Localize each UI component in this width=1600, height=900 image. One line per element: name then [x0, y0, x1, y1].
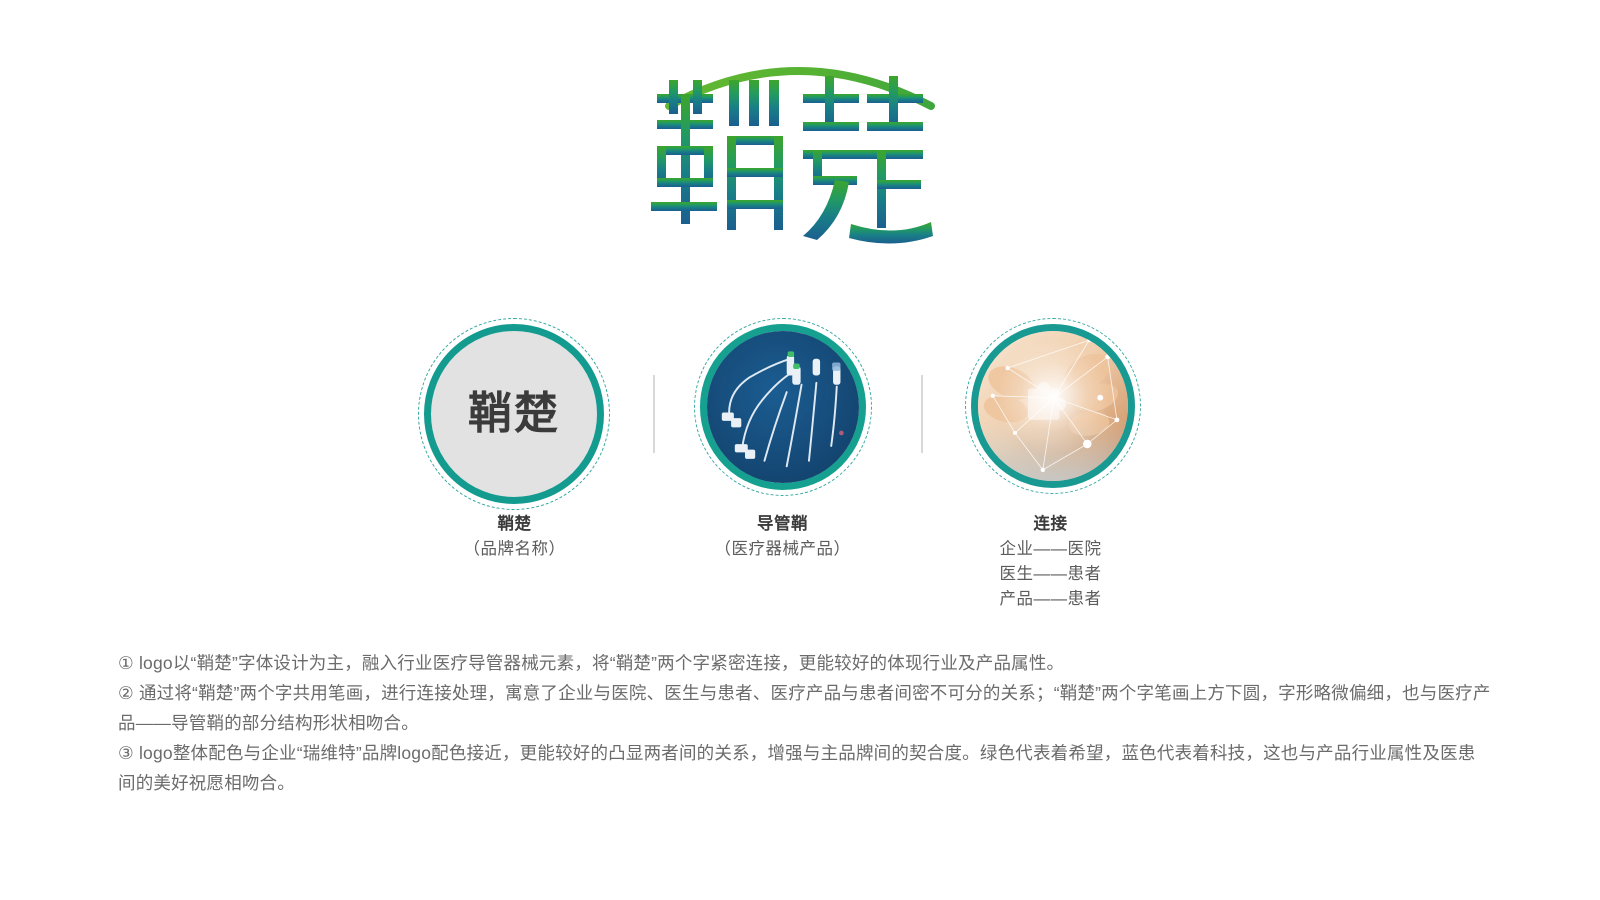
relation-line-1: 企业——医院 [948, 537, 1153, 562]
note-item-1: ① logo以“鞘楚”字体设计为主，融入行业医疗导管器械元素，将“鞘楚”两个字紧… [118, 648, 1493, 678]
caption-subtitle: （品牌名称） [412, 537, 617, 562]
solid-ring-3 [971, 324, 1135, 488]
relation-line-2: 医生——患者 [948, 562, 1153, 587]
caption-connection: 连接 企业——医院 医生——患者 产品——患者 [948, 512, 1153, 612]
logo-glyph-chu [803, 76, 933, 244]
concept-circles-row: 鞘楚 [0, 318, 1600, 518]
dashed-ring-3 [965, 318, 1141, 494]
catheter-sheath-photo [707, 331, 859, 483]
concept-circle-brand-name[interactable]: 鞘楚 [418, 318, 610, 510]
brand-logo-svg [645, 50, 955, 250]
caption-title: 连接 [948, 512, 1153, 537]
caption-brand-name: 鞘楚 （品牌名称） [412, 512, 617, 562]
dashed-ring-2 [694, 318, 872, 496]
concept-circle-connection[interactable] [965, 318, 1141, 494]
logo-lockup [645, 50, 955, 250]
relation-line-3: 产品——患者 [948, 587, 1153, 612]
note-item-2: ② 通过将“鞘楚”两个字共用笔画，进行连接处理，寓意了企业与医院、医生与患者、医… [118, 678, 1493, 738]
caption-title: 导管鞘 [680, 512, 885, 537]
concept-circle-catheter-sheath[interactable] [694, 318, 872, 496]
note-item-3: ③ logo整体配色与企业“瑞维特”品牌logo配色接近，更能较好的凸显两者间的… [118, 738, 1493, 798]
design-rationale-notes: ① logo以“鞘楚”字体设计为主，融入行业医疗导管器械元素，将“鞘楚”两个字紧… [118, 648, 1493, 798]
logo-area [0, 42, 1600, 257]
caption-title: 鞘楚 [412, 512, 617, 537]
hands-network-photo [978, 331, 1128, 481]
logo-design-presentation-page: 鞘楚 [0, 0, 1600, 900]
solid-ring-2 [700, 324, 866, 490]
logo-glyph-qiao [651, 80, 783, 230]
caption-catheter-sheath: 导管鞘 （医疗器械产品） [680, 512, 885, 562]
circle-wordmark-text: 鞘楚 [468, 392, 560, 436]
solid-ring-1: 鞘楚 [424, 324, 604, 504]
dashed-ring-1: 鞘楚 [418, 318, 610, 510]
circle-divider-1 [653, 375, 655, 453]
caption-subtitle: （医疗器械产品） [680, 537, 885, 562]
circle-divider-2 [921, 375, 923, 453]
